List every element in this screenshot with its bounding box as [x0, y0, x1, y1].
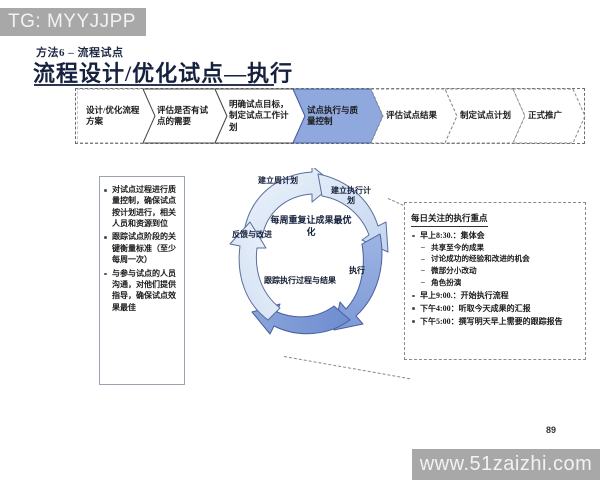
title-underline [34, 84, 274, 86]
cycle-label-feedback: 反馈与改进 [232, 230, 272, 240]
cycle-label-exec-plan: 建立执行计划 [328, 186, 374, 207]
daily-focus-sublist: 共享至今的成果 讨论成功的经验和改进的机会 微部分小改动 角色扮演 [411, 243, 579, 289]
daily-focus-panel: 每日关注的执行重点 早上8:30.：集体会 共享至今的成果 讨论成功的经验和改进… [404, 202, 586, 360]
left-bullet-list: 对试点过程进行质量控制，确保试点按计划进行，相关人员和资源到位 跟踪试点阶段的关… [103, 184, 180, 313]
watermark-top-text: TG: MYYJJPP [8, 11, 136, 33]
list-item: 与参与试点的人员沟通，对他们提供指导，确保试点效果最佳 [103, 268, 180, 313]
process-step-3[interactable]: 明确试点目标，制定试点工作计划 [215, 88, 305, 144]
cycle-label-execute: 执行 [340, 266, 374, 276]
list-item: 对试点过程进行质量控制，确保试点按计划进行，相关人员和资源到位 [103, 184, 180, 229]
list-item: 早上8:30.：集体会 [411, 230, 579, 241]
list-item: 微部分小改动 [411, 266, 579, 277]
cycle-label-weekly-plan: 建立周计划 [254, 176, 302, 186]
process-step-2-label: 评估是否有试点的需要 [143, 105, 225, 128]
process-step-5-label: 评估试点结果 [371, 110, 454, 121]
process-step-7-label: 正式推广 [513, 110, 585, 121]
watermark-bottom-banner: www.51zaizhi.com [412, 449, 600, 480]
watermark-top-banner: TG: MYYJJPP [0, 8, 146, 36]
process-step-4-active[interactable]: 试点执行与质量控制 [293, 88, 383, 144]
list-item: 共享至今的成果 [411, 243, 579, 254]
list-item: 下午5:00：撰写明天早上需要的跟踪报告 [411, 316, 579, 327]
left-guidance-panel: 对试点过程进行质量控制，确保试点按计划进行，相关人员和资源到位 跟踪试点阶段的关… [99, 176, 185, 385]
process-step-7[interactable]: 正式推广 [513, 88, 585, 144]
process-chevron-band: 设计/优化流程方案 评估是否有试点的需要 明确试点目标，制定试点工作计划 试点执… [75, 88, 585, 144]
daily-focus-list: 早上8:30.：集体会 共享至今的成果 讨论成功的经验和改进的机会 微部分小改动… [411, 230, 579, 327]
connector-cycle-to-panel-lower [284, 356, 410, 379]
cycle-center-label: 每周重复让成果最优化 [268, 214, 354, 238]
slide-canvas: TG: MYYJJPP 方法6 – 流程试点 流程设计/优化试点—执行 设计/优… [0, 0, 600, 480]
list-item: 跟踪试点阶段的关键衡量标准（至少每周一次） [103, 231, 180, 265]
process-step-3-label: 明确试点目标，制定试点工作计划 [215, 99, 303, 133]
daily-focus-heading: 每日关注的执行重点 [411, 212, 488, 227]
list-item: 下午4:00：听取今天成果的汇报 [411, 303, 579, 314]
list-item: 早上9:00.：开始执行流程 [411, 290, 579, 301]
list-item: 讨论成功的经验和改进的机会 [411, 254, 579, 265]
weekly-cycle-diagram: 建立周计划 建立执行计划 执行 跟踪执行过程与结果 反馈与改进 每周重复让成果最… [222, 168, 400, 350]
page-number: 89 [546, 425, 556, 435]
process-step-4-label: 试点执行与质量控制 [293, 105, 377, 128]
list-item: 角色扮演 [411, 278, 579, 289]
cycle-label-track: 跟踪执行过程与结果 [264, 276, 336, 286]
watermark-bottom-text: www.51zaizhi.com [420, 453, 593, 476]
